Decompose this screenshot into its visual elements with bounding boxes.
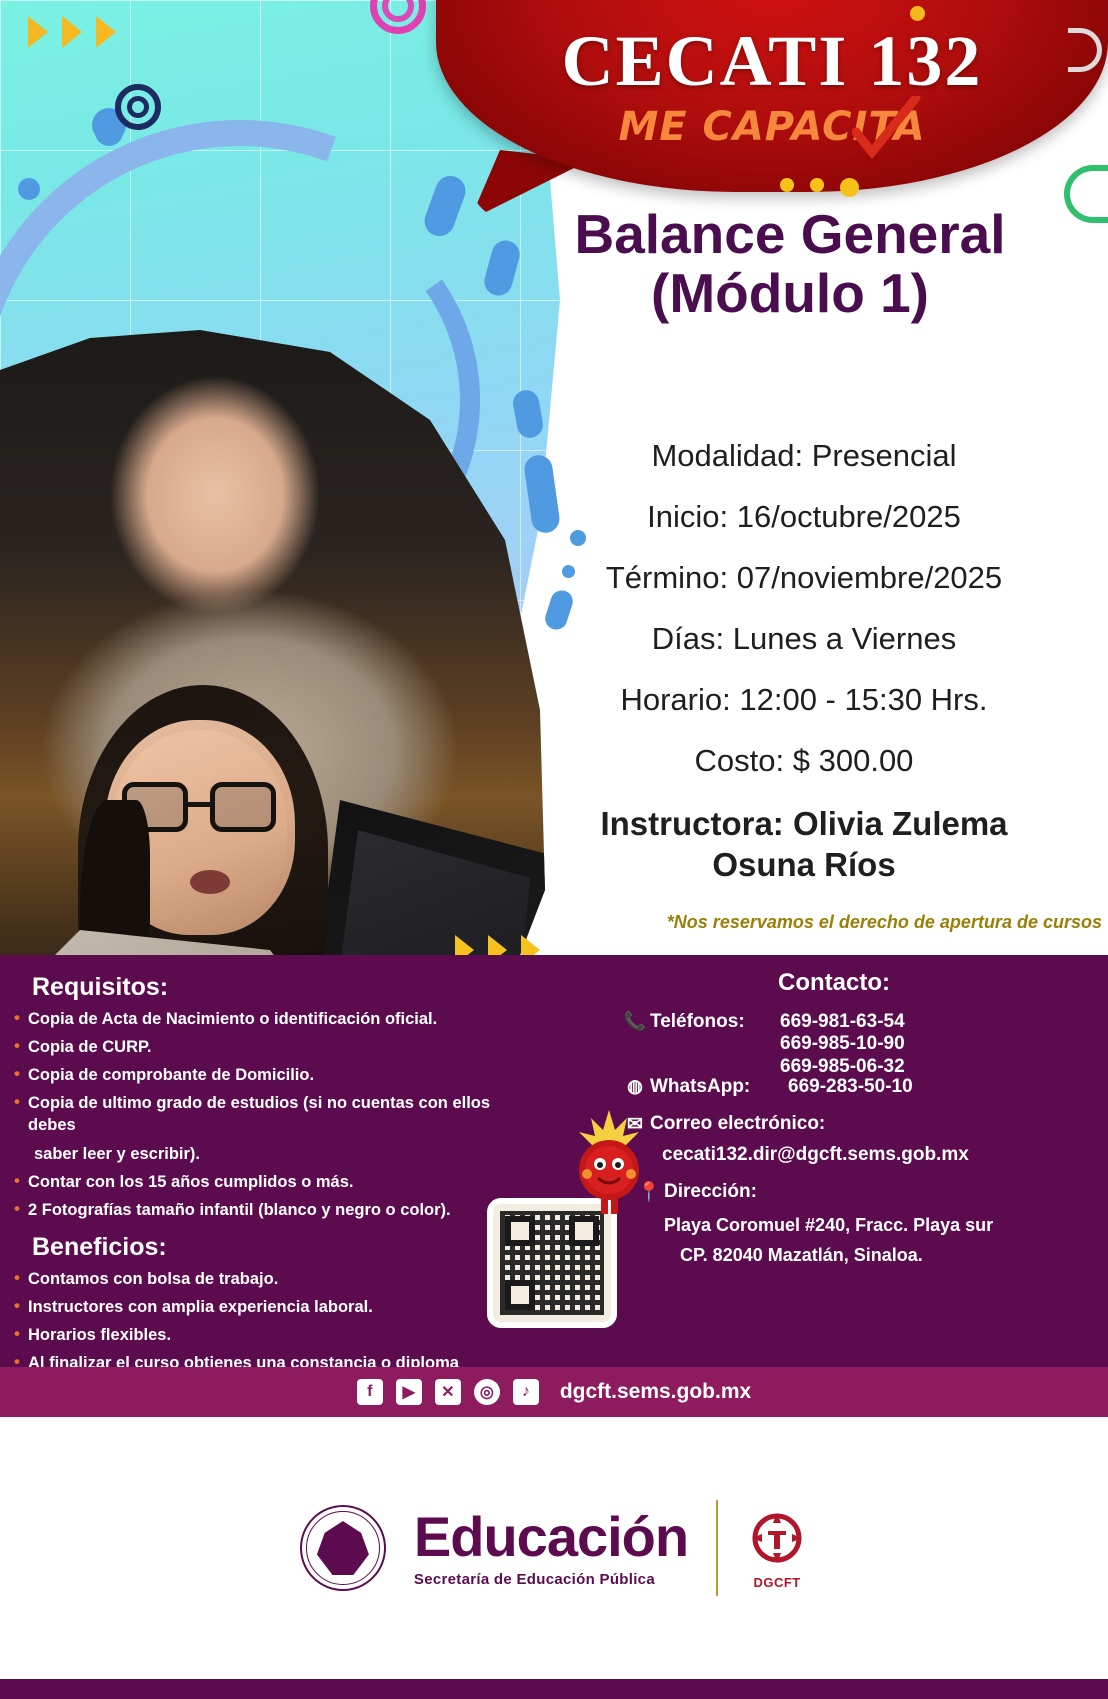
detail-instructor-line2: Osuna Ríos [500,847,1108,884]
triangle-accent-group-top [28,16,116,48]
educacion-title: Educación [414,1509,688,1565]
correo-value[interactable]: cecati132.dir@dgcft.sems.gob.mx [620,1144,1108,1166]
direccion-line1: Playa Coromuel #240, Fracc. Playa sur [620,1212,1108,1240]
top-section: CECATI 132 ME CAPACITA Balance General (… [0,0,1108,955]
triangle-icon [28,16,48,48]
glasses-lens-right [210,782,276,832]
contact-phones-row: 📞 Teléfonos: 669-981-63-54 669-985-10-90… [620,1011,1108,1078]
telefonos-label: Teléfonos: [650,1011,780,1033]
dgcft-logo: DGCFT [746,1507,808,1590]
direccion-label: Dirección: [664,1181,757,1203]
yellow-dot-icon [910,6,925,21]
contact-column: Contacto: 📞 Teléfonos: 669-981-63-54 669… [620,955,1108,1367]
requisitos-list: Copia de Acta de Nacimiento o identifica… [14,1008,530,1221]
direccion-line2: CP. 82040 Mazatlán, Sinaloa. [620,1242,1108,1270]
list-item: Horarios flexibles. [14,1324,530,1346]
detail-dias: Días: Lunes a Viernes [500,623,1108,654]
instagram-icon[interactable]: ◎ [474,1379,500,1405]
course-title-line2: (Módulo 1) [480,264,1100,323]
dgcft-gear-icon [746,1507,808,1569]
list-item: Copia de ultimo grado de estudios (si no… [14,1092,530,1136]
contacto-heading: Contacto: [620,969,1108,997]
triangle-accent-group-bottom [455,935,540,955]
yellow-dot-icon [780,178,794,192]
triangle-icon [521,935,540,955]
whatsapp-value: 669-283-50-10 [780,1076,913,1098]
bubble-dots-group [780,178,859,197]
triangle-icon [455,935,474,955]
educacion-logo: Educación Secretaría de Educación Públic… [414,1509,688,1588]
tiktok-icon[interactable]: ♪ [513,1379,539,1405]
phone-icon: 📞 [620,1011,650,1032]
whatsapp-icon: ◍ [620,1076,650,1097]
dgcft-label: DGCFT [746,1575,808,1590]
course-title-line1: Balance General [480,205,1100,264]
list-item: Contamos con bolsa de trabajo. [14,1268,530,1290]
contact-address-label-row: 📍 Dirección: [620,1180,1108,1204]
course-details: Modalidad: Presencial Inicio: 16/octubre… [500,440,1108,888]
footer-strip [0,1679,1108,1699]
website-url[interactable]: dgcft.sems.gob.mx [560,1380,751,1404]
detail-costo: Costo: $ 300.00 [500,745,1108,776]
list-item: 2 Fotografías tamaño infantil (blanco y … [14,1199,530,1221]
qr-corner-bl [505,1280,535,1310]
brand-tagline: ME CAPACITA [436,104,1108,150]
detail-horario: Horario: 12:00 - 15:30 Hrs. [500,684,1108,715]
detail-termino: Término: 07/noviembre/2025 [500,562,1108,593]
contact-email-label-row: ✉ Correo electrónico: [620,1113,1108,1136]
footer: Educación Secretaría de Educación Públic… [0,1417,1108,1679]
triangle-icon [62,16,82,48]
photo-mouth [190,870,230,894]
check-mark-icon [852,96,922,158]
beneficios-heading: Beneficios: [32,1233,530,1262]
list-item: Contar con los 15 años cumplidos o más. [14,1171,530,1193]
whatsapp-label: WhatsApp: [650,1076,780,1098]
list-item: Copia de Acta de Nacimiento o identifica… [14,1008,530,1030]
detail-inicio: Inicio: 16/octubre/2025 [500,501,1108,532]
youtube-icon[interactable]: ▶ [396,1379,422,1405]
requisitos-heading: Requisitos: [32,973,530,1002]
requirements-benefits-column: Requisitos: Copia de Acta de Nacimiento … [0,955,540,1367]
list-item-continuation: saber leer y escribir). [14,1143,530,1165]
mascot-icon [565,1108,653,1218]
triangle-icon [96,16,116,48]
disclaimer-text: *Nos reservamos el derecho de apertura d… [480,912,1108,933]
page-title: Balance General (Módulo 1) [480,205,1100,324]
contact-whatsapp-row[interactable]: ◍ WhatsApp: 669-283-50-10 [620,1076,1108,1098]
glasses-bridge [188,802,210,807]
yellow-dot-icon [840,178,859,197]
mexico-coat-of-arms-icon [300,1505,386,1591]
list-item: Copia de comprobante de Domicilio. [14,1064,530,1086]
qr-corner-tr [569,1216,599,1246]
list-item: Copia de CURP. [14,1036,530,1058]
detail-modalidad: Modalidad: Presencial [500,440,1108,471]
qr-corner-tl [505,1216,535,1246]
correo-label: Correo electrónico: [650,1113,825,1135]
decorative-dot-3 [18,178,40,200]
detail-instructor-line1: Instructora: Olivia Zulema [500,806,1108,843]
x-twitter-icon[interactable]: ✕ [435,1379,461,1405]
course-poster: CECATI 132 ME CAPACITA Balance General (… [0,0,1108,1699]
footer-divider [716,1500,718,1596]
navy-circle-inner-icon [127,96,149,118]
social-bar: f ▶ ✕ ◎ ♪ dgcft.sems.gob.mx [0,1367,1108,1417]
facebook-icon[interactable]: f [357,1379,383,1405]
sep-subtitle: Secretaría de Educación Pública [414,1571,688,1588]
yellow-dot-icon [810,178,824,192]
list-item: Instructores con amplia experiencia labo… [14,1296,530,1318]
telefonos-values: 669-981-63-54 669-985-10-90 669-985-06-3… [780,1011,905,1078]
triangle-icon [488,935,507,955]
brand-title: CECATI 132 [436,20,1108,103]
decorative-dot-4 [95,118,123,146]
